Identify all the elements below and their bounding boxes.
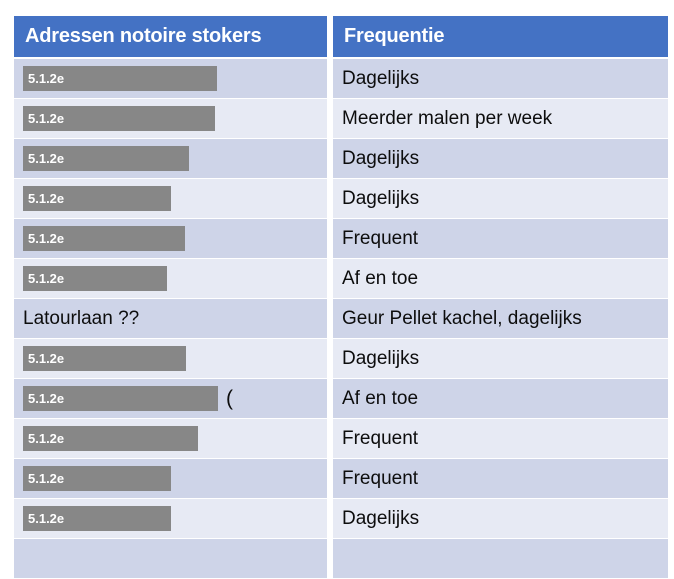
frequency-text: Meerder malen per week [342, 108, 552, 130]
cell-address: 5.1.2e [14, 499, 327, 538]
column-header-frequency-label: Frequentie [344, 25, 444, 48]
frequency-text: Frequent [342, 468, 418, 490]
redaction-box: 5.1.2e [23, 226, 185, 251]
table-row [14, 539, 668, 578]
cell-address: Latourlaan ?? [14, 299, 327, 338]
redaction-box: 5.1.2e [23, 186, 171, 211]
redaction-label: 5.1.2e [28, 432, 64, 445]
cell-frequency: Dagelijks [333, 179, 668, 218]
table-row: 5.1.2eAf en toe [14, 259, 668, 298]
redaction-box: 5.1.2e [23, 266, 167, 291]
cell-address: 5.1.2e( [14, 379, 327, 418]
cell-address: 5.1.2e [14, 179, 327, 218]
cell-address: 5.1.2e [14, 139, 327, 178]
redaction-box: 5.1.2e [23, 106, 215, 131]
cell-frequency: Dagelijks [333, 139, 668, 178]
address-suffix-text: ( [226, 388, 233, 409]
table-row: 5.1.2eDagelijks [14, 499, 668, 538]
cell-frequency: Frequent [333, 459, 668, 498]
frequency-text: Dagelijks [342, 348, 419, 370]
table-row: 5.1.2eDagelijks [14, 179, 668, 218]
redaction-label: 5.1.2e [28, 352, 64, 365]
cell-address: 5.1.2e [14, 459, 327, 498]
redaction-label: 5.1.2e [28, 512, 64, 525]
column-header-address-label: Adressen notoire stokers [25, 25, 261, 48]
frequency-text: Geur Pellet kachel, dagelijks [342, 308, 582, 330]
table-row: 5.1.2eDagelijks [14, 339, 668, 378]
frequency-text: Af en toe [342, 268, 418, 290]
cell-frequency [333, 539, 668, 578]
table-row: Latourlaan ??Geur Pellet kachel, dagelij… [14, 299, 668, 338]
redaction-label: 5.1.2e [28, 192, 64, 205]
redaction-box: 5.1.2e [23, 66, 217, 91]
notorious-burners-table: Adressen notoire stokers Frequentie 5.1.… [14, 16, 668, 579]
redaction-label: 5.1.2e [28, 112, 64, 125]
cell-frequency: Meerder malen per week [333, 99, 668, 138]
table-row: 5.1.2eFrequent [14, 419, 668, 458]
cell-frequency: Dagelijks [333, 499, 668, 538]
frequency-text: Dagelijks [342, 148, 419, 170]
cell-frequency: Af en toe [333, 259, 668, 298]
frequency-text: Frequent [342, 228, 418, 250]
cell-address: 5.1.2e [14, 259, 327, 298]
header-cell-frequency: Frequentie [333, 16, 668, 57]
cell-address: 5.1.2e [14, 419, 327, 458]
redaction-box: 5.1.2e [23, 346, 186, 371]
frequency-text: Frequent [342, 428, 418, 450]
frequency-text: Af en toe [342, 388, 418, 410]
cell-frequency: Geur Pellet kachel, dagelijks [333, 299, 668, 338]
redaction-box: 5.1.2e [23, 386, 218, 411]
cell-address: 5.1.2e [14, 59, 327, 98]
table-row: 5.1.2eFrequent [14, 459, 668, 498]
cell-address: 5.1.2e [14, 339, 327, 378]
redaction-label: 5.1.2e [28, 152, 64, 165]
cell-frequency: Frequent [333, 219, 668, 258]
cell-frequency: Frequent [333, 419, 668, 458]
redaction-box: 5.1.2e [23, 506, 171, 531]
redaction-box: 5.1.2e [23, 426, 198, 451]
cell-address [14, 539, 327, 578]
frequency-text: Dagelijks [342, 68, 419, 90]
redaction-label: 5.1.2e [28, 392, 64, 405]
table-row: 5.1.2eFrequent [14, 219, 668, 258]
table-row: 5.1.2eMeerder malen per week [14, 99, 668, 138]
cell-frequency: Af en toe [333, 379, 668, 418]
redaction-box: 5.1.2e [23, 146, 189, 171]
frequency-text: Dagelijks [342, 188, 419, 210]
cell-address: 5.1.2e [14, 219, 327, 258]
redaction-label: 5.1.2e [28, 272, 64, 285]
redaction-label: 5.1.2e [28, 232, 64, 245]
cell-frequency: Dagelijks [333, 339, 668, 378]
address-text: Latourlaan ?? [23, 308, 139, 330]
table-body: 5.1.2eDagelijks5.1.2eMeerder malen per w… [14, 59, 668, 578]
redaction-box: 5.1.2e [23, 466, 171, 491]
redaction-label: 5.1.2e [28, 472, 64, 485]
table-row: 5.1.2eDagelijks [14, 59, 668, 98]
table-header-row: Adressen notoire stokers Frequentie [14, 16, 668, 57]
cell-address: 5.1.2e [14, 99, 327, 138]
redaction-label: 5.1.2e [28, 72, 64, 85]
table-row: 5.1.2e(Af en toe [14, 379, 668, 418]
cell-frequency: Dagelijks [333, 59, 668, 98]
frequency-text: Dagelijks [342, 508, 419, 530]
table-row: 5.1.2eDagelijks [14, 139, 668, 178]
header-cell-address: Adressen notoire stokers [14, 16, 327, 57]
document-page: Adressen notoire stokers Frequentie 5.1.… [0, 0, 674, 576]
